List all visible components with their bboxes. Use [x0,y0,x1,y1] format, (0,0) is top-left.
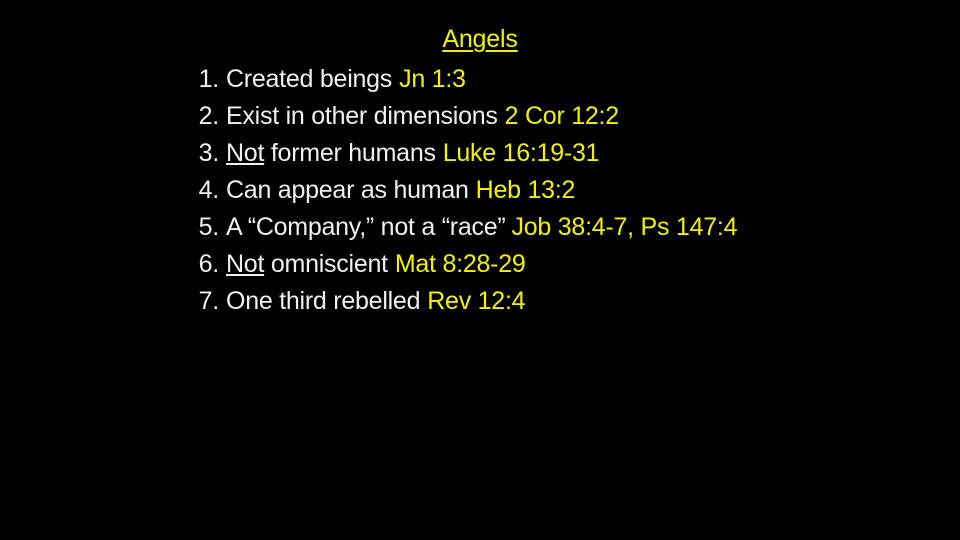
list-item-statement: Can appear as human [226,176,469,204]
list-item-body: A “Company,” not a “race”Job 38:4-7, Ps … [226,209,737,246]
list-item-statement: Exist in other dimensions [226,102,498,130]
list-item-statement: Created beings [226,65,392,93]
list-item-reference: Luke 16:19-31 [443,139,600,167]
list-item-statement: Not former humans [226,139,436,167]
bullet-list: 1. Created beingsJn 1:3 2. Exist in othe… [192,61,952,320]
list-item-body: One third rebelledRev 12:4 [226,283,525,320]
list-item-reference: Rev 12:4 [427,287,525,315]
list-item-statement: One third rebelled [226,287,420,315]
list-item-number: 7. [192,283,219,320]
slide-title: Angels [0,24,960,54]
list-item: 2. Exist in other dimensions2 Cor 12:2 [192,98,952,135]
list-item-reference: Heb 13:2 [476,176,575,204]
list-item-number: 6. [192,246,219,283]
list-item: 5. A “Company,” not a “race”Job 38:4-7, … [192,209,952,246]
list-item-number: 5. [192,209,219,246]
slide-title-text: Angels [442,25,517,53]
list-item-number: 4. [192,172,219,209]
list-item: 4. Can appear as humanHeb 13:2 [192,172,952,209]
list-item-body: Can appear as humanHeb 13:2 [226,172,575,209]
list-item-number: 3. [192,135,219,172]
list-item: 7. One third rebelledRev 12:4 [192,283,952,320]
list-item-statement-rest: omniscient [264,250,388,278]
list-item-number: 1. [192,61,219,98]
presentation-slide: Angels 1. Created beingsJn 1:3 2. Exist … [0,0,960,540]
list-item: 3. Not former humansLuke 16:19-31 [192,135,952,172]
list-item-number: 2. [192,98,219,135]
list-item-body: Not omniscientMat 8:28-29 [226,246,526,283]
list-item-body: Not former humansLuke 16:19-31 [226,135,599,172]
list-item: 1. Created beingsJn 1:3 [192,61,952,98]
list-item-reference: 2 Cor 12:2 [505,102,619,130]
list-item-body: Exist in other dimensions2 Cor 12:2 [226,98,619,135]
list-item-statement: A “Company,” not a “race” [226,213,506,241]
list-item-statement: Not omniscient [226,250,388,278]
emphasized-word: Not [226,250,264,278]
list-item: 6. Not omniscientMat 8:28-29 [192,246,952,283]
list-item-reference: Mat 8:28-29 [395,250,526,278]
list-item-statement-rest: former humans [264,139,436,167]
list-item-reference: Jn 1:3 [399,65,466,93]
list-item-reference: Job 38:4-7, Ps 147:4 [512,213,738,241]
emphasized-word: Not [226,139,264,167]
list-item-body: Created beingsJn 1:3 [226,61,466,98]
